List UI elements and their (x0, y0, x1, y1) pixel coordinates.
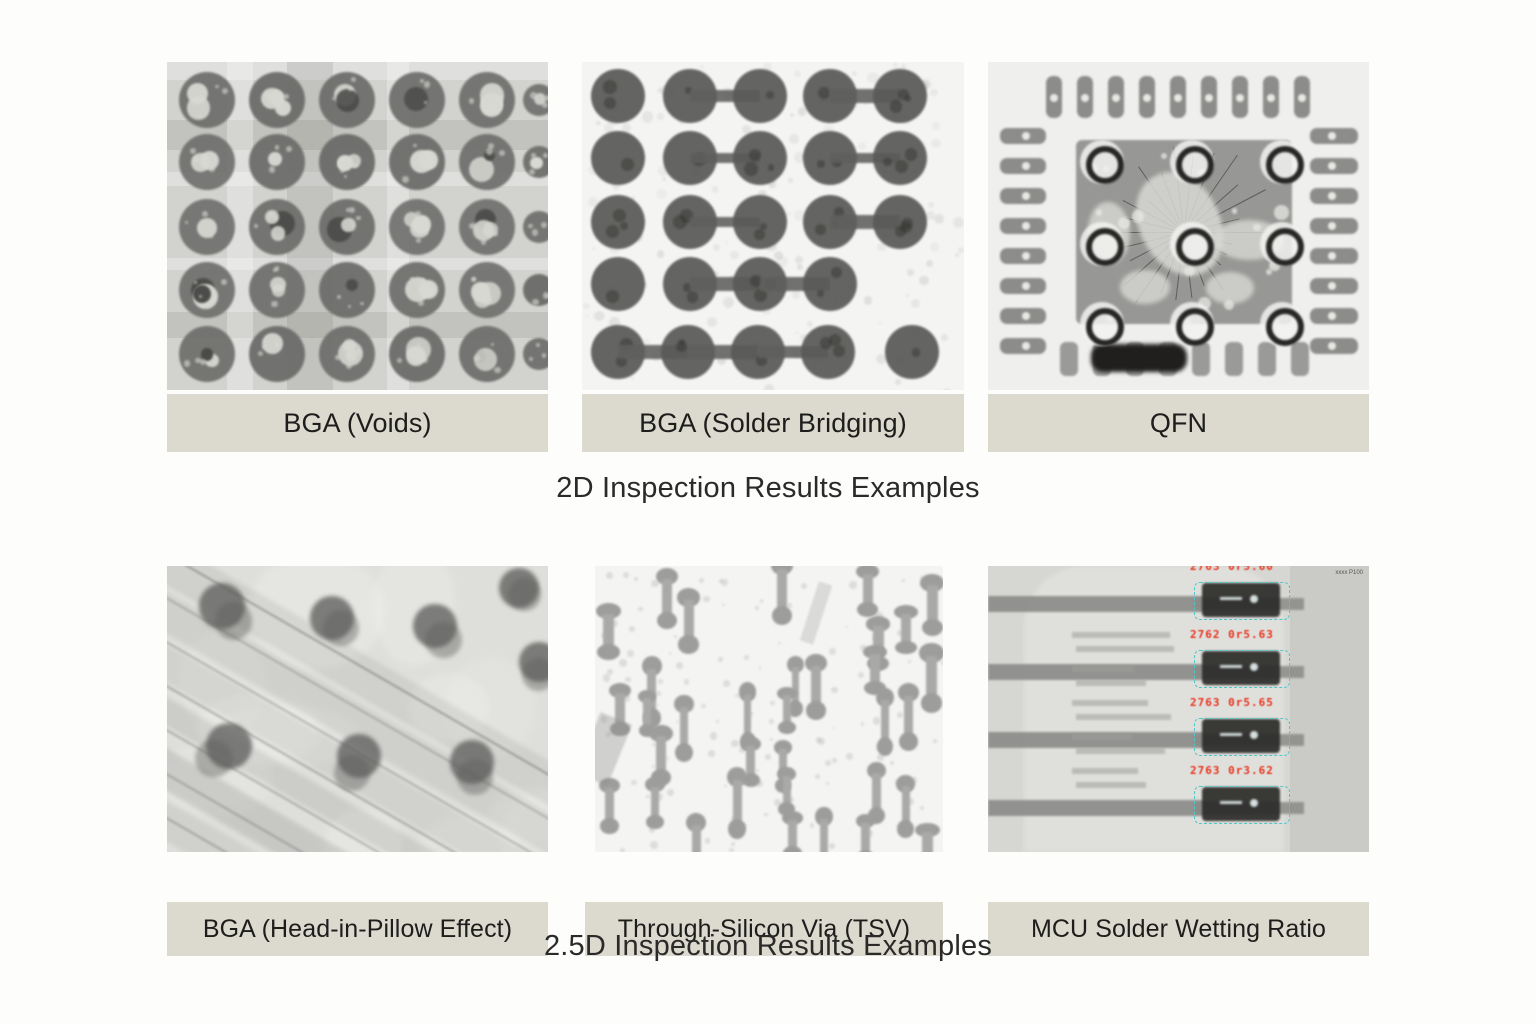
xray-image-bga-head-in-pillow (167, 566, 548, 852)
qfn-pad (1225, 342, 1243, 376)
tsv-via (727, 767, 747, 839)
tsv-via (596, 603, 621, 660)
panel-tsv[interactable]: Through-Silicon Via (TSV) (595, 566, 943, 852)
tsv-via (815, 807, 832, 852)
xray-image-tsv (595, 566, 943, 852)
caption-qfn: QFN (988, 394, 1369, 452)
qfn-pad (1060, 342, 1078, 376)
solder-ball (801, 325, 855, 379)
solder-ball (591, 257, 645, 311)
tsv-via (856, 566, 879, 617)
section-title-text: 2.5D Inspection Results Examples (544, 930, 992, 962)
section-title-text: 2D Inspection Results Examples (556, 472, 979, 504)
qfn-via-ring (1086, 308, 1124, 346)
qfn-via-ring (1266, 146, 1304, 184)
tsv-via (898, 683, 919, 751)
section-25d: BGA (Head-in-Pillow Effect) Through-Sili… (0, 520, 1536, 1024)
tsv-via (599, 778, 619, 834)
panel-bga-voids[interactable]: BGA (Voids) (167, 62, 548, 390)
void (341, 218, 356, 233)
measurement-label: 2762 0r5.63 (1190, 628, 1274, 641)
caption-bga-voids: BGA (Voids) (167, 394, 548, 452)
pillow-lobe (195, 740, 233, 778)
roi-box (1194, 718, 1290, 756)
pillow-lobe (215, 602, 253, 640)
tsv-via (920, 574, 943, 636)
tsv-via (782, 811, 803, 852)
solder-ball (733, 195, 787, 249)
void (262, 333, 283, 354)
xray-image-mcu-wetting: 2763 0r5.602762 0r5.632763 0r5.652763 0r… (988, 566, 1369, 852)
panel-bga-bridging[interactable]: BGA (Solder Bridging) (582, 62, 964, 390)
tsv-via (674, 695, 694, 762)
void (187, 83, 208, 104)
caption-text: BGA (Voids) (283, 408, 431, 439)
measurement-label: 2763 0r5.60 (1190, 566, 1274, 573)
measurement-label: 2763 0r3.62 (1190, 764, 1274, 777)
caption-text: QFN (1150, 408, 1207, 439)
tsv-via (919, 643, 943, 712)
pillow-lobe (508, 578, 541, 611)
tsv-via (656, 568, 678, 629)
corner-watermark: xxxx P100 (1335, 570, 1363, 576)
qfn-pad (1192, 342, 1210, 376)
void (420, 285, 432, 297)
qfn-via-ring (1086, 146, 1124, 184)
section-2d: BGA (Voids) BGA (Solder Bridging) QFN (0, 0, 1536, 520)
tsv-via (777, 687, 796, 734)
solder-ball (873, 131, 927, 185)
pillow-lobe (425, 622, 461, 658)
pillow-lobe (522, 658, 548, 691)
inspection-results-board: BGA (Voids) BGA (Solder Bridging) QFN (0, 0, 1536, 1024)
caption-bga-bridging: BGA (Solder Bridging) (582, 394, 964, 452)
caption-text: BGA (Solder Bridging) (639, 408, 907, 439)
lead-frame (988, 596, 1204, 612)
qfn-pad (1291, 342, 1309, 376)
solder-ball (803, 257, 857, 311)
tsv-via (686, 813, 707, 852)
void (261, 88, 282, 109)
void (271, 226, 285, 240)
qfn-via-ring (1176, 308, 1214, 346)
qfn-via-ring (1086, 228, 1124, 266)
void-dark (336, 89, 359, 112)
pillow-lobe (334, 755, 370, 791)
solder-ball (591, 195, 645, 249)
qfn-via-ring (1266, 308, 1304, 346)
solder-ball (319, 262, 375, 318)
panel-qfn[interactable]: QFN (988, 62, 1369, 390)
solder-ball (591, 69, 645, 123)
lead-frame (988, 800, 1204, 816)
section-title-2d: 2D Inspection Results Examples (0, 472, 1536, 505)
panel-bga-head-in-pillow[interactable]: BGA (Head-in-Pillow Effect) (167, 566, 548, 852)
qfn-via-ring (1176, 228, 1214, 266)
tsv-via (915, 823, 940, 852)
tsv-via (777, 767, 795, 816)
tsv-via (896, 775, 914, 838)
roi-box (1194, 786, 1290, 824)
tsv-via (805, 654, 827, 720)
measurement-label: 2763 0r5.65 (1190, 696, 1274, 709)
qfn-via-ring (1266, 228, 1304, 266)
solder-ball (591, 131, 645, 185)
void-dark (404, 87, 428, 111)
solder-ball (733, 69, 787, 123)
solder-ball (873, 195, 927, 249)
void-dark (193, 285, 211, 303)
tsv-via (876, 688, 893, 756)
tsv-via (856, 814, 876, 852)
xray-image-bga-bridging (582, 62, 964, 390)
tsv-via (645, 777, 664, 829)
section-title-25d: 2.5D Inspection Results Examples (0, 930, 1536, 963)
pillow-lobe (457, 759, 493, 795)
roi-box (1194, 582, 1290, 620)
panel-mcu[interactable]: 2763 0r5.602762 0r5.632763 0r5.652763 0r… (988, 566, 1369, 852)
void (410, 150, 433, 173)
tsv-via (894, 605, 918, 654)
qfn-via-ring (1176, 146, 1214, 184)
qfn-pad (1258, 342, 1276, 376)
tsv-via (771, 566, 793, 625)
xray-image-qfn (988, 62, 1369, 390)
qfn-solder-defect (1091, 344, 1187, 372)
xray-image-bga-voids (167, 62, 548, 390)
roi-box (1194, 650, 1290, 688)
tsv-via (677, 588, 700, 653)
